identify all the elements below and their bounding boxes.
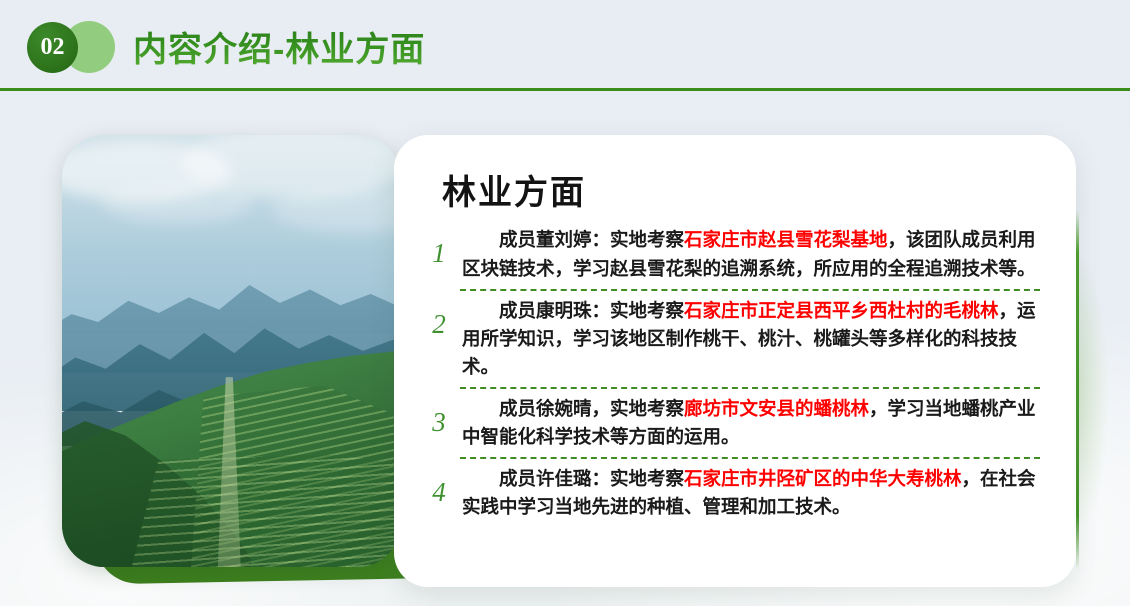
list-item-highlight: 石家庄市正定县西平乡西杜村的毛桃林 <box>684 300 999 321</box>
list-item-number: 2 <box>424 297 454 338</box>
list-divider <box>460 289 1040 291</box>
list-divider <box>460 457 1040 459</box>
list-item-highlight: 石家庄市赵县雪花梨基地 <box>684 229 888 250</box>
content-stage: 林业方面 1 成员董刘婷：实地考察石家庄市赵县雪花梨基地，该团队成员利用区块链技… <box>0 92 1130 606</box>
list-item-text: 成员康明珠：实地考察石家庄市正定县西平乡西杜村的毛桃林，运用所学知识，学习该地区… <box>462 297 1040 381</box>
list-item: 3 成员徐婉晴，实地考察廊坊市文安县的蟠桃林，学习当地蟠桃产业中智能化科学技术等… <box>424 395 1040 451</box>
list-item-text: 成员许佳璐：实地考察石家庄市井陉矿区的中华大寿桃林，在社会实践中学习当地先进的种… <box>462 465 1040 521</box>
header-divider <box>0 88 1130 91</box>
list-item-text-pre: 成员康明珠：实地考察 <box>499 300 684 321</box>
list-item: 2 成员康明珠：实地考察石家庄市正定县西平乡西杜村的毛桃林，运用所学知识，学习该… <box>424 297 1040 381</box>
list-item-highlight: 廊坊市文安县的蟠桃林 <box>684 398 869 419</box>
card-title: 林业方面 <box>442 175 1040 212</box>
list-item-text-pre: 成员徐婉晴，实地考察 <box>499 398 684 419</box>
list-item-text-pre: 成员许佳璐：实地考察 <box>499 468 684 489</box>
list-item-number: 4 <box>424 465 454 506</box>
right-accent-line <box>1076 210 1079 570</box>
page-header: 02 内容介绍-林业方面 <box>0 0 1130 92</box>
content-card: 林业方面 1 成员董刘婷：实地考察石家庄市赵县雪花梨基地，该团队成员利用区块链技… <box>394 135 1076 587</box>
section-number-badge: 02 <box>27 21 137 73</box>
landscape-photo <box>62 135 400 567</box>
list-item-number: 3 <box>424 395 454 436</box>
forestry-item-list: 1 成员董刘婷：实地考察石家庄市赵县雪花梨基地，该团队成员利用区块链技术，学习赵… <box>424 226 1040 521</box>
list-item-highlight: 石家庄市井陉矿区的中华大寿桃林 <box>684 468 962 489</box>
list-item-text: 成员徐婉晴，实地考察廊坊市文安县的蟠桃林，学习当地蟠桃产业中智能化科学技术等方面… <box>462 395 1040 451</box>
list-divider <box>460 387 1040 389</box>
badge-number-label: 02 <box>27 22 78 73</box>
list-item-text-pre: 成员董刘婷：实地考察 <box>499 229 684 250</box>
list-item-number: 1 <box>424 226 454 267</box>
photo-overlay <box>62 135 400 567</box>
list-item: 1 成员董刘婷：实地考察石家庄市赵县雪花梨基地，该团队成员利用区块链技术，学习赵… <box>424 226 1040 282</box>
list-item: 4 成员许佳璐：实地考察石家庄市井陉矿区的中华大寿桃林，在社会实践中学习当地先进… <box>424 465 1040 521</box>
page-title: 内容介绍-林业方面 <box>133 22 425 71</box>
list-item-text: 成员董刘婷：实地考察石家庄市赵县雪花梨基地，该团队成员利用区块链技术，学习赵县雪… <box>462 226 1040 282</box>
